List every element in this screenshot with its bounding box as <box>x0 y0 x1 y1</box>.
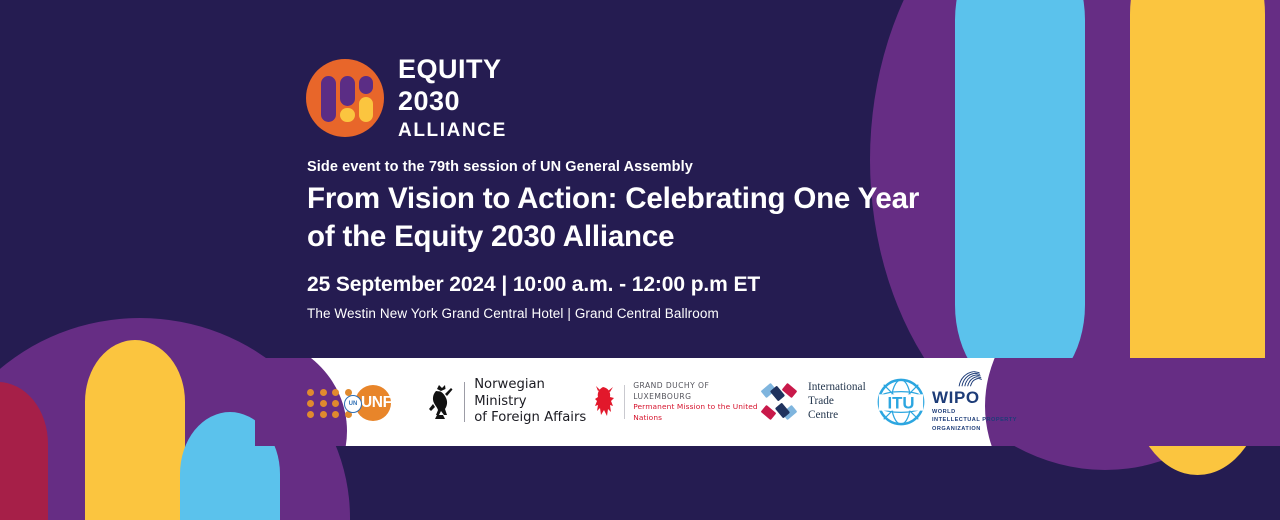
luxembourg-label: GRAND DUCHY OF LUXEMBOURG Permanent Miss… <box>633 380 760 423</box>
brand-line-equity: EQUITY <box>398 56 507 83</box>
itc-label-line-2: Trade <box>808 395 866 409</box>
logo-bar-yellow-medium <box>359 97 373 122</box>
brand-line-2030: 2030 <box>398 88 507 115</box>
norway-lion-crest-icon <box>425 382 455 422</box>
brand-wordmark: EQUITY 2030 ALLIANCE <box>398 56 507 140</box>
partner-logo-unfpa: UN UNFPA <box>307 380 425 424</box>
partner-logo-itc: International Trade Centre <box>760 378 870 426</box>
itu-globe-logo-icon: ITU <box>876 377 926 427</box>
logo-bar-purple-medium <box>340 76 355 106</box>
luxembourg-label-line-1: GRAND DUCHY OF LUXEMBOURG <box>633 380 760 402</box>
unfpa-wordmark: UNFPA <box>361 394 411 412</box>
logo-bar-purple-tall <box>321 76 336 122</box>
wipo-wordmark: WIPO <box>932 389 980 406</box>
equity-2030-alliance-logo-icon <box>306 59 384 137</box>
wipo-subtitle-line-3: ORGANIZATION <box>932 425 1017 433</box>
luxembourg-label-line-2: Permanent Mission to the United Nations <box>633 402 760 423</box>
event-eyebrow: Side event to the 79th session of UN Gen… <box>307 159 693 175</box>
luxembourg-red-lion-icon <box>590 385 616 419</box>
wipo-curved-lines-icon <box>946 371 996 387</box>
brand-line-alliance: ALLIANCE <box>398 121 507 140</box>
svg-text:ITU: ITU <box>887 393 914 412</box>
wipo-subtitle-line-1: WORLD <box>932 408 1017 416</box>
wipo-subtitle-line-2: INTELLECTUAL PROPERTY <box>932 416 1017 424</box>
norway-label: Norwegian Ministry of Foreign Affairs <box>474 377 590 428</box>
itc-pinwheel-icon <box>760 382 800 422</box>
event-datetime: 25 September 2024 | 10:00 a.m. - 12:00 p… <box>307 273 760 297</box>
luxembourg-divider <box>624 385 625 419</box>
logo-bar-purple-small <box>359 76 373 94</box>
partner-logo-wipo: WIPO WORLD INTELLECTUAL PROPERTY ORGANIZ… <box>932 371 1052 433</box>
un-emblem-icon: UN <box>344 395 362 413</box>
partner-logo-strip: UN UNFPA <box>255 358 1280 446</box>
event-banner: EQUITY 2030 ALLIANCE Side event to the 7… <box>0 0 1280 520</box>
norway-label-line-2: of Foreign Affairs <box>474 410 590 427</box>
norway-label-line-1: Norwegian Ministry <box>474 377 590 411</box>
event-headline: From Vision to Action: Celebrating One Y… <box>307 180 947 256</box>
partner-logo-norway: Norwegian Ministry of Foreign Affairs <box>425 376 590 428</box>
brand-lockup: EQUITY 2030 ALLIANCE <box>306 56 507 140</box>
partner-logo-row: UN UNFPA <box>255 358 1280 446</box>
itc-label-line-1: International <box>808 381 866 395</box>
event-venue: The Westin New York Grand Central Hotel … <box>307 306 719 321</box>
logo-bar-yellow-short <box>340 108 355 122</box>
itc-label-line-3: Centre <box>808 409 866 423</box>
partner-logo-itu: ITU <box>870 377 932 427</box>
norway-divider <box>464 382 465 422</box>
wipo-subtitle: WORLD INTELLECTUAL PROPERTY ORGANIZATION <box>932 408 1017 433</box>
itc-label: International Trade Centre <box>808 381 866 422</box>
partner-logo-luxembourg: GRAND DUCHY OF LUXEMBOURG Permanent Miss… <box>590 378 760 426</box>
